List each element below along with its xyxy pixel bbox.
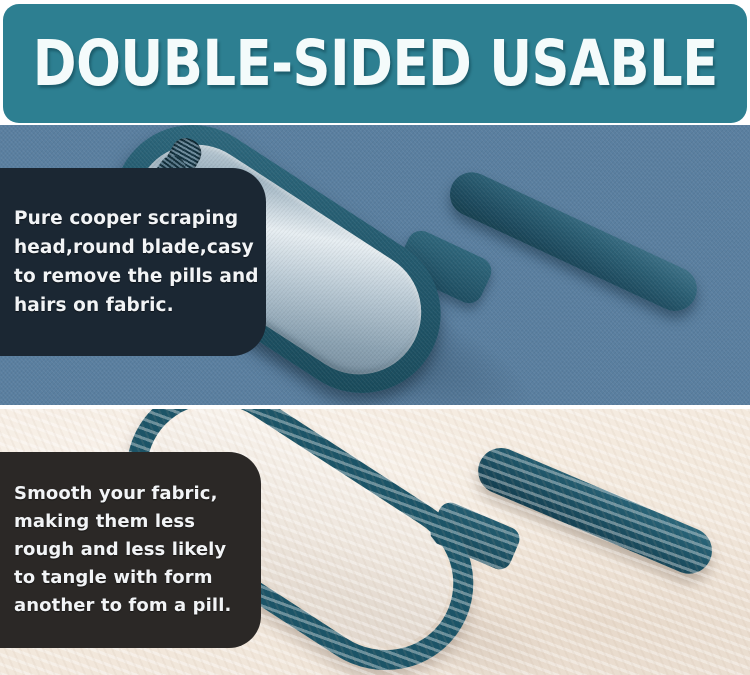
callout-text-line: rough and less likely [14,536,247,564]
callout-text-line: to tangle with form [14,564,247,592]
callout-text-line: hairs on fabric. [14,291,250,320]
callout-text-line: head,round blade,casy [14,233,250,262]
callout-text-line: to remove the pills and [14,262,250,291]
header-banner: DOUBLE-SIDED USABLE [3,4,747,123]
product-infographic: DOUBLE-SIDED USABLE [0,0,750,675]
feature-callout-bottom: Smooth your fabric, making them less rou… [0,452,261,648]
callout-text-line: another to fom a pill. [14,592,247,620]
callout-text-line: Pure cooper scraping [14,204,250,233]
callout-text-line: making them less [14,508,247,536]
photo-divider [0,405,750,409]
feature-callout-top: Pure cooper scraping head,round blade,ca… [0,168,266,356]
page-title: DOUBLE-SIDED USABLE [32,32,717,95]
tool-handle [443,165,704,318]
callout-text-line: Smooth your fabric, [14,480,247,508]
